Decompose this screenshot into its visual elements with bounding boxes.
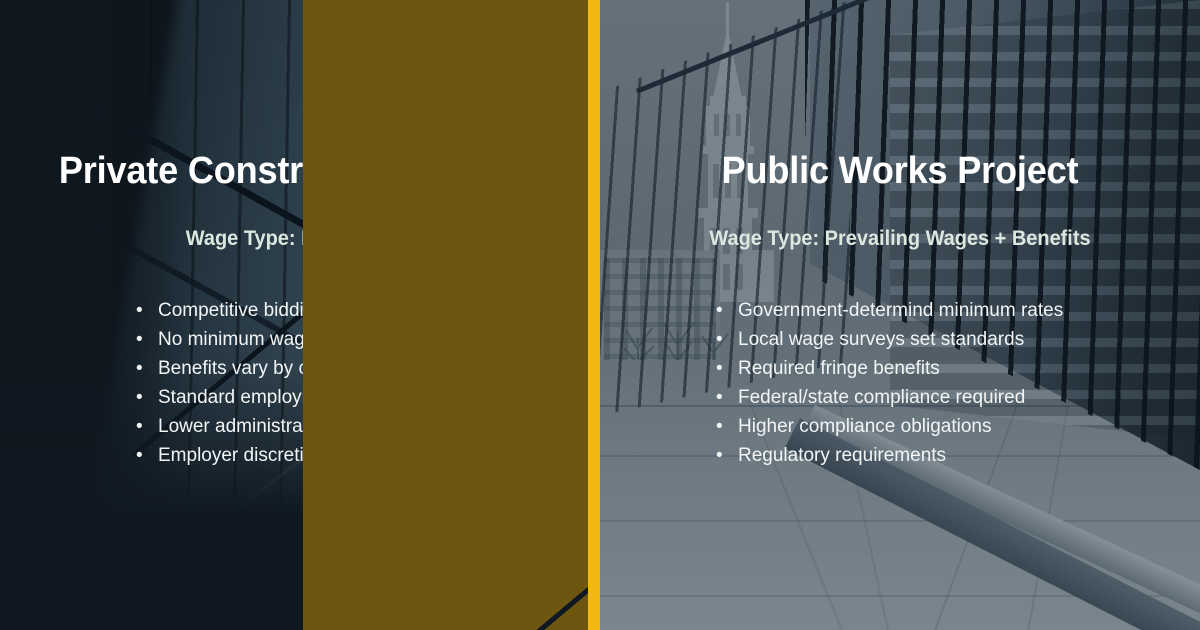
gold-divider-stripe — [588, 0, 600, 630]
bullet-dot-icon: • — [716, 296, 732, 325]
list-item-label: Employer discretion — [158, 445, 325, 466]
wage-type-subtitle-public: Wage Type: Prevailing Wages + Benefits — [615, 225, 1185, 253]
list-item: • Government-determind minimum rates — [716, 296, 1063, 325]
page-title-public: Public Works Project — [615, 148, 1185, 194]
list-item: • Required fringe benefits — [716, 354, 1063, 383]
bullet-dot-icon: • — [136, 354, 152, 383]
right-panel-content: Public Works Project Wage Type: Prevaili… — [600, 0, 1200, 630]
list-item-label: Required fringe benefits — [738, 358, 940, 379]
comparison-infographic: Private Construction Project Wage Type: … — [0, 0, 1200, 630]
bullet-dot-icon: • — [716, 383, 732, 412]
list-item-label: Federal/state compliance required — [738, 387, 1025, 408]
list-item-label: Regulatory requirements — [738, 445, 946, 466]
list-item-label: Government-determind minimum rates — [738, 300, 1063, 321]
list-item-label: Higher compliance obligations — [738, 416, 991, 437]
olive-color-overlay — [303, 0, 588, 630]
bullet-dot-icon: • — [716, 354, 732, 383]
list-item-label: Local wage surveys set standards — [738, 329, 1024, 350]
list-item: • Higher compliance obligations — [716, 412, 1063, 441]
bullet-dot-icon: • — [136, 325, 152, 354]
bullet-dot-icon: • — [136, 383, 152, 412]
bullet-dot-icon: • — [716, 325, 732, 354]
list-item: • Local wage surveys set standards — [716, 325, 1063, 354]
bullet-dot-icon: • — [136, 441, 152, 470]
list-item: • Regulatory requirements — [716, 441, 1063, 470]
panel-public-works: Public Works Project Wage Type: Prevaili… — [600, 0, 1200, 630]
bullet-list-public: • Government-determind minimum rates • L… — [716, 296, 1063, 470]
bullet-dot-icon: • — [136, 412, 152, 441]
bullet-dot-icon: • — [716, 412, 732, 441]
bullet-dot-icon: • — [716, 441, 732, 470]
list-item: • Federal/state compliance required — [716, 383, 1063, 412]
bullet-dot-icon: • — [136, 296, 152, 325]
